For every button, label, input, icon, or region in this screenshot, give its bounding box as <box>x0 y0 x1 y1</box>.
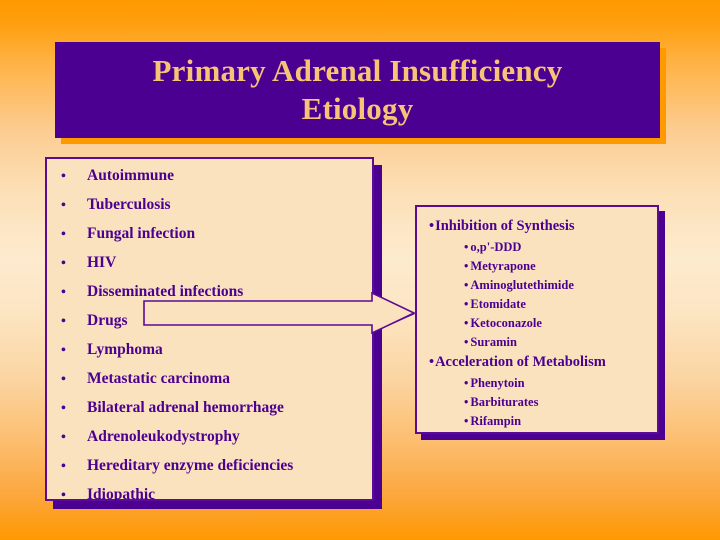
list-item: • HIV <box>47 254 372 283</box>
list-item: • Autoimmune <box>47 167 372 196</box>
right-arrow-icon <box>143 292 419 336</box>
bullet-icon: • <box>464 335 468 349</box>
bullet-icon: • <box>61 460 87 474</box>
drug-item: •Metyrapone <box>417 257 657 276</box>
drug-item: •Suramin <box>417 333 657 352</box>
list-item-label: Metastatic carcinoma <box>87 370 230 388</box>
drugs-box: •Inhibition of Synthesis •o,p'-DDD •Mety… <box>415 205 659 434</box>
bullet-icon: • <box>429 218 434 234</box>
bullet-icon: • <box>61 286 87 300</box>
drug-item-label: Phenytoin <box>470 376 524 390</box>
drug-group-heading: •Inhibition of Synthesis <box>417 216 657 238</box>
title-bar: Primary Adrenal Insufficiency Etiology <box>55 42 660 138</box>
list-item-label: Hereditary enzyme deficiencies <box>87 457 293 475</box>
bullet-icon: • <box>61 315 87 329</box>
bullet-icon: • <box>464 297 468 311</box>
arrow-body <box>144 293 414 333</box>
drug-item: •Etomidate <box>417 295 657 314</box>
title-line-1: Primary Adrenal Insufficiency <box>153 53 563 88</box>
causes-list: • Autoimmune • Tuberculosis • Fungal inf… <box>47 167 372 515</box>
bullet-icon: • <box>464 259 468 273</box>
bullet-icon: • <box>429 354 434 370</box>
drug-group-heading: •Acceleration of Metabolism <box>417 352 657 374</box>
drug-item-label: Aminoglutethimide <box>470 278 573 292</box>
bullet-icon: • <box>61 228 87 242</box>
bullet-icon: • <box>61 257 87 271</box>
slide-canvas: Primary Adrenal Insufficiency Etiology •… <box>0 0 720 540</box>
bullet-icon: • <box>61 489 87 503</box>
drug-item-label: Rifampin <box>470 414 521 428</box>
list-item-label: HIV <box>87 254 116 272</box>
bullet-icon: • <box>61 170 87 184</box>
drug-item: •Phenytoin <box>417 374 657 393</box>
bullet-icon: • <box>464 414 468 428</box>
list-item: • Adrenoleukodystrophy <box>47 428 372 457</box>
list-item: • Lymphoma <box>47 341 372 370</box>
drug-item-label: Suramin <box>470 335 517 349</box>
title-line-2: Etiology <box>302 91 414 126</box>
bullet-icon: • <box>464 240 468 254</box>
list-item-label: Bilateral adrenal hemorrhage <box>87 399 284 417</box>
list-item-label: Adrenoleukodystrophy <box>87 428 240 446</box>
drug-item-label: Ketoconazole <box>470 316 542 330</box>
drug-item: •o,p'-DDD <box>417 238 657 257</box>
list-item-label: Fungal infection <box>87 225 195 243</box>
list-item-label: Autoimmune <box>87 167 174 185</box>
bullet-icon: • <box>61 344 87 358</box>
drug-item-label: Etomidate <box>470 297 526 311</box>
list-item-label: Tuberculosis <box>87 196 171 214</box>
bullet-icon: • <box>61 373 87 387</box>
bullet-icon: • <box>464 278 468 292</box>
list-item-label: Idiopathic <box>87 486 155 504</box>
bullet-icon: • <box>61 199 87 213</box>
bullet-icon: • <box>61 402 87 416</box>
list-item: • Metastatic carcinoma <box>47 370 372 399</box>
page-title: Primary Adrenal Insufficiency Etiology <box>55 52 660 128</box>
drug-item: •Rifampin <box>417 412 657 431</box>
list-item: • Idiopathic <box>47 486 372 515</box>
drug-item-label: Barbiturates <box>470 395 538 409</box>
list-item: • Tuberculosis <box>47 196 372 225</box>
drug-item-label: o,p'-DDD <box>470 240 521 254</box>
bullet-icon: • <box>61 431 87 445</box>
bullet-icon: • <box>464 316 468 330</box>
drug-group-heading-label: Acceleration of Metabolism <box>435 354 606 370</box>
list-item-label: Drugs <box>87 312 127 330</box>
drug-group-heading-label: Inhibition of Synthesis <box>435 218 574 234</box>
bullet-icon: • <box>464 376 468 390</box>
list-item: • Bilateral adrenal hemorrhage <box>47 399 372 428</box>
drug-item: •Aminoglutethimide <box>417 276 657 295</box>
list-item: • Hereditary enzyme deficiencies <box>47 457 372 486</box>
list-item: • Fungal infection <box>47 225 372 254</box>
drug-item: •Barbiturates <box>417 393 657 412</box>
list-item-label: Lymphoma <box>87 341 163 359</box>
drug-item-label: Metyrapone <box>470 259 535 273</box>
drug-item: •Ketoconazole <box>417 314 657 333</box>
bullet-icon: • <box>464 395 468 409</box>
arrow-connector <box>143 292 419 336</box>
